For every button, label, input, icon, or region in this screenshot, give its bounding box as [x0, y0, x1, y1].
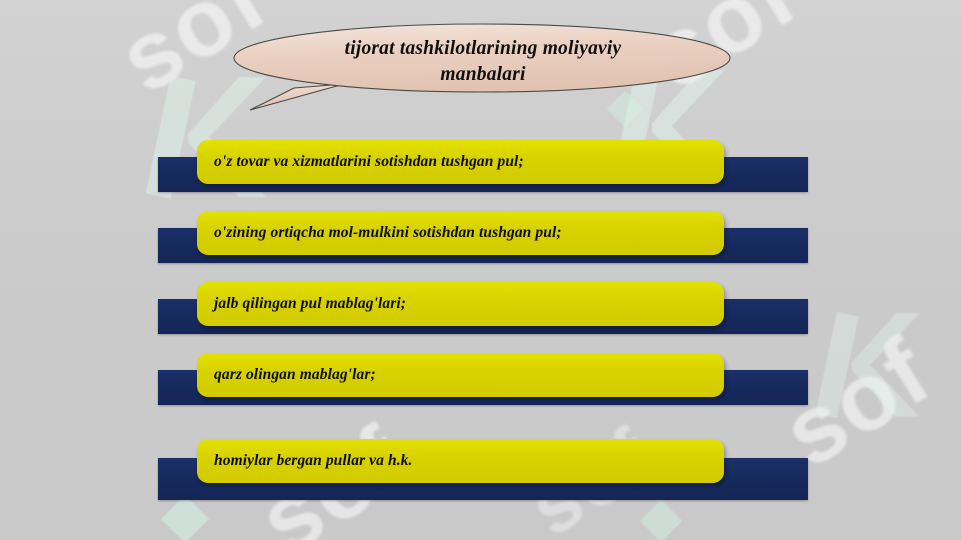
- title-text: tijorat tashkilotlarining moliyaviy manb…: [288, 36, 678, 88]
- row-label: o'z tovar va xizmatlarini sotishdan tush…: [197, 153, 524, 171]
- row-label: qarz olingan mablag'lar;: [197, 366, 376, 384]
- row-label: jalb qilingan pul mablag'lari;: [197, 295, 406, 313]
- title-line-1: tijorat tashkilotlarining moliyaviy: [288, 36, 678, 62]
- row-chip[interactable]: o'z tovar va xizmatlarini sotishdan tush…: [197, 140, 724, 184]
- row-chip[interactable]: o'zining ortiqcha mol-mulkini sotishdan …: [197, 211, 724, 255]
- row-chip[interactable]: homiylar bergan pullar va h.k.: [197, 439, 724, 483]
- title-line-2: manbalari: [288, 62, 678, 88]
- row-chip[interactable]: qarz olingan mablag'lar;: [197, 353, 724, 397]
- row-label: o'zining ortiqcha mol-mulkini sotishdan …: [197, 224, 562, 242]
- row-label: homiylar bergan pullar va h.k.: [197, 452, 413, 470]
- slide-canvas: sof sof sof sof sof: [0, 0, 961, 540]
- row-chip[interactable]: jalb qilingan pul mablag'lari;: [197, 282, 724, 326]
- title-callout: tijorat tashkilotlarining moliyaviy manb…: [232, 22, 732, 122]
